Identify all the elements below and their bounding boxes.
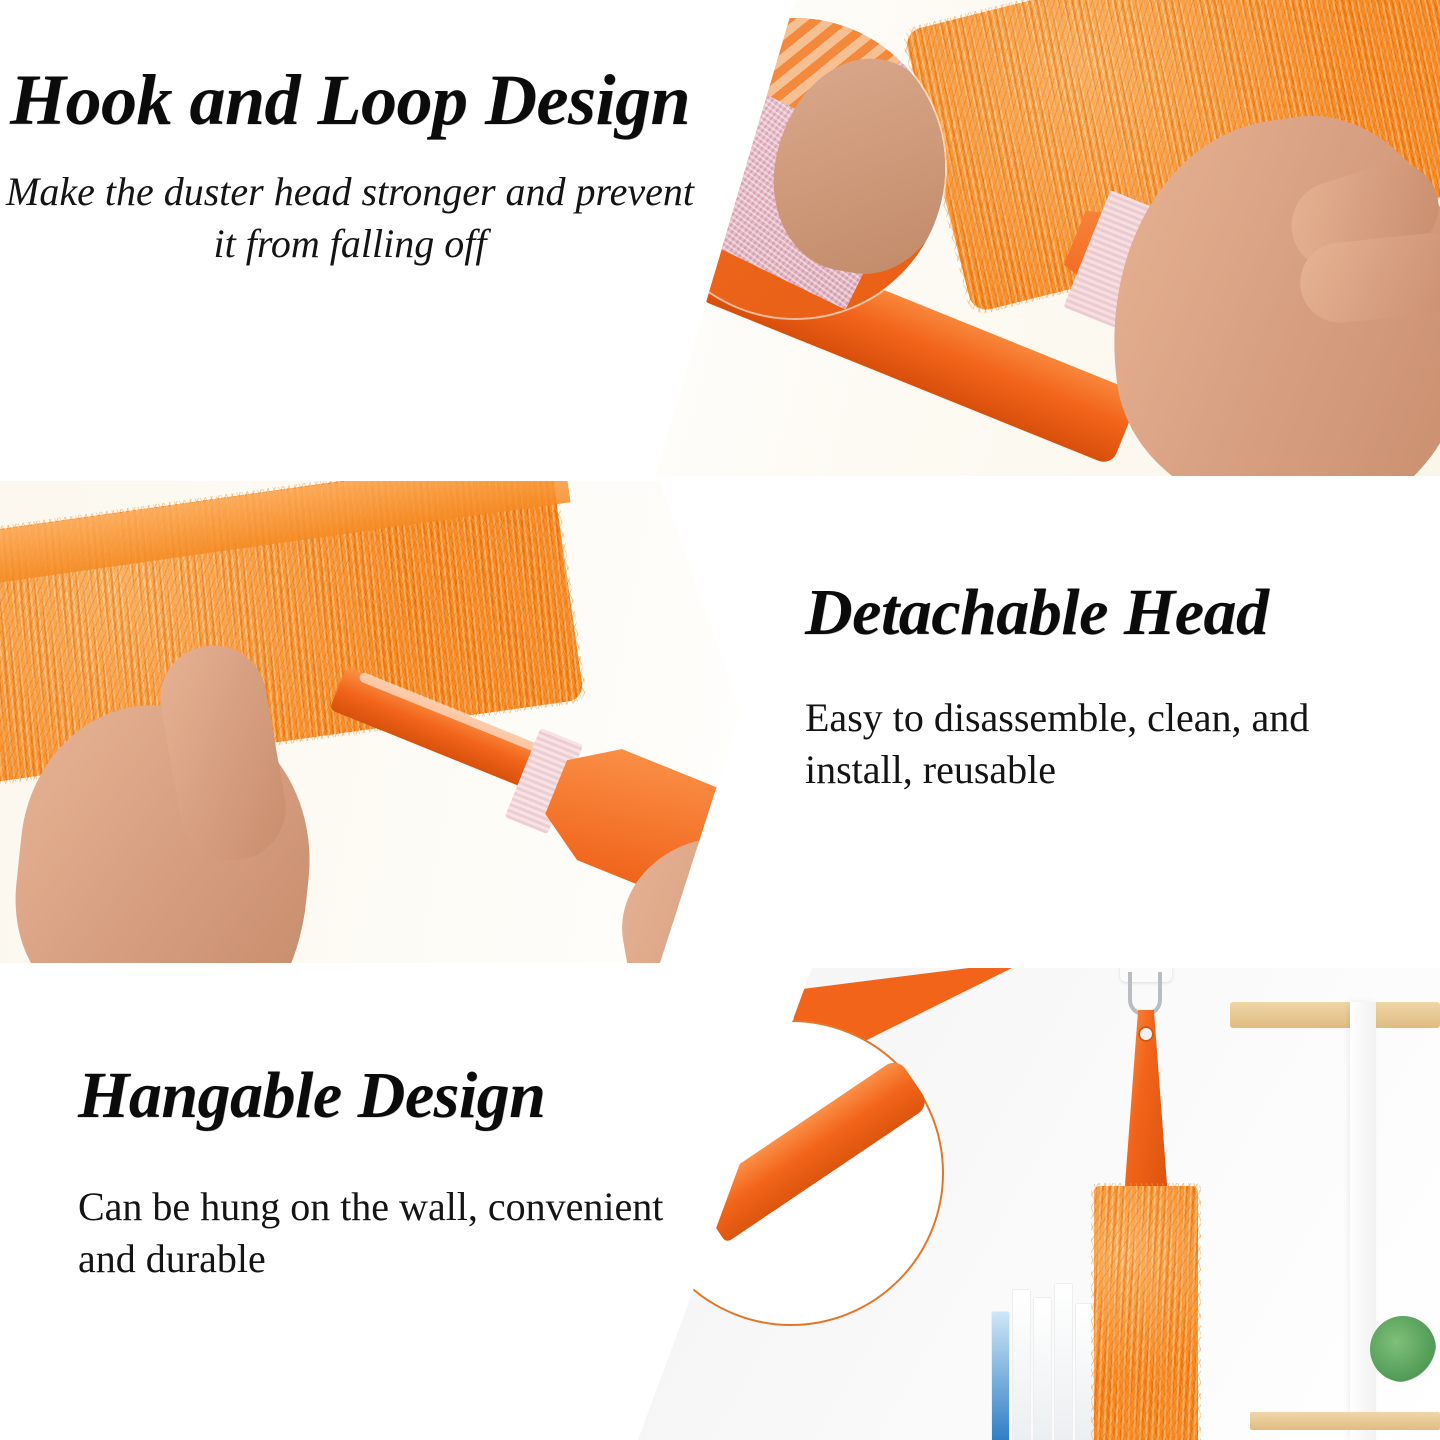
book-spine xyxy=(1034,1298,1051,1440)
panel-headline: Hook and Loop Design xyxy=(0,62,700,140)
feature-row-hook-and-loop: Hook and Loop Design Make the duster hea… xyxy=(0,0,1440,476)
panel-subline: Easy to disassemble, clean, and install,… xyxy=(805,692,1425,796)
panel-headline: Hangable Design xyxy=(78,1060,728,1131)
shelf-post xyxy=(1350,1002,1376,1440)
hang-hole xyxy=(1138,1026,1154,1042)
book-spine xyxy=(992,1312,1009,1440)
feature-row-detachable-head: Detachable Head Easy to disassemble, cle… xyxy=(0,481,1440,963)
wall-hook xyxy=(1128,972,1162,1016)
text-block: Detachable Head Easy to disassemble, cle… xyxy=(805,577,1425,796)
panel-subline: Make the duster head stronger and preven… xyxy=(0,166,700,270)
panel-subline: Can be hung on the wall, convenient and … xyxy=(78,1181,728,1285)
microfiber-duster-head xyxy=(1094,1186,1198,1440)
hang-hole-closeup xyxy=(898,1134,940,1176)
wooden-shelf-lower xyxy=(1250,1412,1440,1430)
book-spine xyxy=(1055,1284,1072,1440)
book-spine xyxy=(1013,1290,1030,1440)
text-block: Hangable Design Can be hung on the wall,… xyxy=(78,1060,728,1285)
panel-headline: Detachable Head xyxy=(805,577,1425,648)
feature-row-hangable-design: Hangable Design Can be hung on the wall,… xyxy=(0,968,1440,1440)
text-panel-detachable-head: Detachable Head Easy to disassemble, cle… xyxy=(640,481,1440,963)
wooden-shelf-top xyxy=(1230,1002,1440,1028)
potted-plant xyxy=(1370,1316,1436,1382)
text-block: Hook and Loop Design Make the duster hea… xyxy=(0,62,700,270)
product-feature-infographic: Hook and Loop Design Make the duster hea… xyxy=(0,0,1440,1440)
